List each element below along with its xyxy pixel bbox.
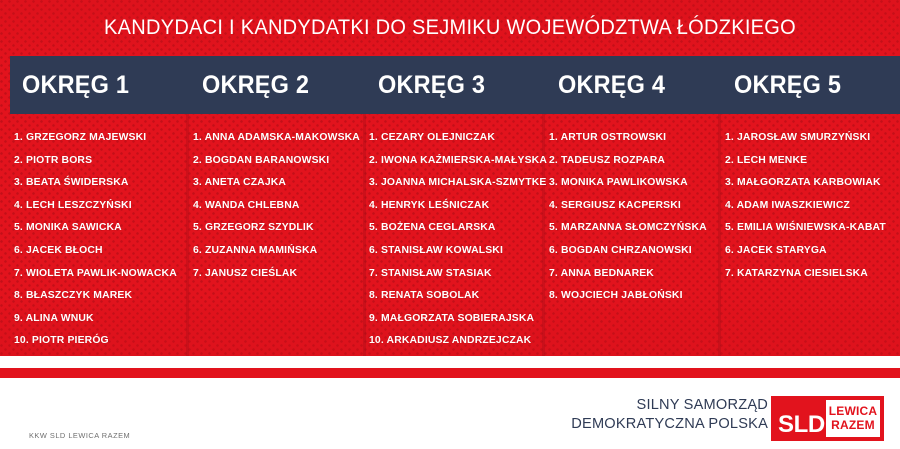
candidate-list-4: 1. ARTUR OSTROWSKI 2. TADEUSZ ROZPARA 3.… — [549, 132, 723, 301]
committee-note: KKW SLD LEWICA RAZEM — [29, 431, 130, 440]
razem-label: RAZEM — [831, 419, 875, 433]
list-item: 1. ANNA ADAMSKA-MAKOWSKA — [193, 132, 369, 143]
list-item: 6. STANISŁAW KOWALSKI — [369, 245, 547, 256]
candidate-column-4: 1. ARTUR OSTROWSKI 2. TADEUSZ ROZPARA 3.… — [549, 114, 723, 356]
list-item: 3. BEATA ŚWIDERSKA — [14, 177, 190, 188]
district-header-band: OKRĘG 1 OKRĘG 2 OKRĘG 3 OKRĘG 4 OKRĘG 5 — [10, 56, 900, 114]
page-title: KANDYDACI I KANDYDATKI DO SEJMIKU WOJEWÓ… — [32, 12, 869, 42]
list-item: 1. GRZEGORZ MAJEWSKI — [14, 132, 190, 143]
list-item: 5. GRZEGORZ SZYDLIK — [193, 222, 369, 233]
list-item: 6. JACEK BŁOCH — [14, 245, 190, 256]
list-item: 6. JACEK STARYGA — [725, 245, 897, 256]
list-item: 5. BOŻENA CEGLARSKA — [369, 222, 547, 233]
list-item: 8. WOJCIECH JABŁOŃSKI — [549, 290, 723, 301]
white-divider-gap — [0, 356, 900, 368]
list-item: 2. LECH MENKE — [725, 155, 897, 166]
candidate-column-3: 1. CEZARY OLEJNICZAK 2. IWONA KAŹMIERSKA… — [369, 114, 547, 356]
red-divider-rule — [0, 368, 900, 378]
list-item: 1. JAROSŁAW SMURZYŃSKI — [725, 132, 897, 143]
slogan-line-1: SILNY SAMORZĄD — [571, 396, 768, 415]
list-item: 10. PIOTR PIERÓG — [14, 335, 190, 346]
list-item: 1. ARTUR OSTROWSKI — [549, 132, 723, 143]
district-header-1: OKRĘG 1 — [22, 71, 129, 100]
list-item: 9. MAŁGORZATA SOBIERAJSKA — [369, 313, 547, 324]
district-header-3: OKRĘG 3 — [378, 71, 485, 100]
campaign-slogan: SILNY SAMORZĄD DEMOKRATYCZNA POLSKA — [571, 396, 768, 433]
district-header-5: OKRĘG 5 — [734, 71, 841, 100]
list-item: 2. PIOTR BORS — [14, 155, 190, 166]
footer: KKW SLD LEWICA RAZEM SILNY SAMORZĄD DEMO… — [0, 378, 900, 449]
sld-wordmark: SLD — [778, 413, 825, 437]
list-item: 4. ADAM IWASZKIEWICZ — [725, 200, 897, 211]
list-item: 2. IWONA KAŹMIERSKA-MAŁYSKA — [369, 155, 547, 166]
list-item: 7. WIOLETA PAWLIK-NOWACKA — [14, 268, 190, 279]
candidate-list-5: 1. JAROSŁAW SMURZYŃSKI 2. LECH MENKE 3. … — [725, 132, 897, 279]
lewica-label: LEWICA — [829, 405, 878, 419]
list-item: 3. ANETA CZAJKA — [193, 177, 369, 188]
district-header-2: OKRĘG 2 — [202, 71, 309, 100]
list-item: 7. STANISŁAW STASIAK — [369, 268, 547, 279]
list-item: 5. MARZANNA SŁOMCZYŃSKA — [549, 222, 723, 233]
list-item: 5. EMILIA WIŚNIEWSKA-KABAT — [725, 222, 897, 233]
candidate-list-3: 1. CEZARY OLEJNICZAK 2. IWONA KAŹMIERSKA… — [369, 132, 547, 346]
list-item: 7. JANUSZ CIEŚLAK — [193, 268, 369, 279]
list-item: 10. ARKADIUSZ ANDRZEJCZAK — [369, 335, 547, 346]
list-item: 2. TADEUSZ ROZPARA — [549, 155, 723, 166]
list-item: 5. MONIKA SAWICKA — [14, 222, 190, 233]
list-item: 4. LECH LESZCZYŃSKI — [14, 200, 190, 211]
candidate-column-2: 1. ANNA ADAMSKA-MAKOWSKA 2. BOGDAN BARAN… — [193, 114, 369, 356]
candidate-column-1: 1. GRZEGORZ MAJEWSKI 2. PIOTR BORS 3. BE… — [14, 114, 190, 356]
lewica-razem-box: LEWICA RAZEM — [826, 400, 880, 437]
list-item: 1. CEZARY OLEJNICZAK — [369, 132, 547, 143]
campaign-poster: KANDYDACI I KANDYDATKI DO SEJMIKU WOJEWÓ… — [0, 0, 900, 449]
list-item: 7. ANNA BEDNAREK — [549, 268, 723, 279]
list-item: 6. ZUZANNA MAMIŃSKA — [193, 245, 369, 256]
list-item: 3. JOANNA MICHALSKA-SZMYTKE — [369, 177, 547, 188]
list-item: 8. BŁASZCZYK MAREK — [14, 290, 190, 301]
district-header-4: OKRĘG 4 — [558, 71, 665, 100]
candidate-column-5: 1. JAROSŁAW SMURZYŃSKI 2. LECH MENKE 3. … — [725, 114, 897, 356]
list-item: 9. ALINA WNUK — [14, 313, 190, 324]
list-item: 4. SERGIUSZ KACPERSKI — [549, 200, 723, 211]
candidate-columns: 1. GRZEGORZ MAJEWSKI 2. PIOTR BORS 3. BE… — [0, 114, 900, 356]
list-item: 4. WANDA CHLEBNA — [193, 200, 369, 211]
slogan-line-2: DEMOKRATYCZNA POLSKA — [571, 415, 768, 434]
sld-logo: SLD LEWICA RAZEM — [771, 396, 884, 441]
list-item: 4. HENRYK LEŚNICZAK — [369, 200, 547, 211]
list-item: 7. KATARZYNA CIESIELSKA — [725, 268, 897, 279]
list-item: 3. MAŁGORZATA KARBOWIAK — [725, 177, 897, 188]
list-item: 8. RENATA SOBOLAK — [369, 290, 547, 301]
list-item: 2. BOGDAN BARANOWSKI — [193, 155, 369, 166]
candidate-list-2: 1. ANNA ADAMSKA-MAKOWSKA 2. BOGDAN BARAN… — [193, 132, 369, 279]
list-item: 6. BOGDAN CHRZANOWSKI — [549, 245, 723, 256]
list-item: 3. MONIKA PAWLIKOWSKA — [549, 177, 723, 188]
candidate-list-1: 1. GRZEGORZ MAJEWSKI 2. PIOTR BORS 3. BE… — [14, 132, 190, 369]
